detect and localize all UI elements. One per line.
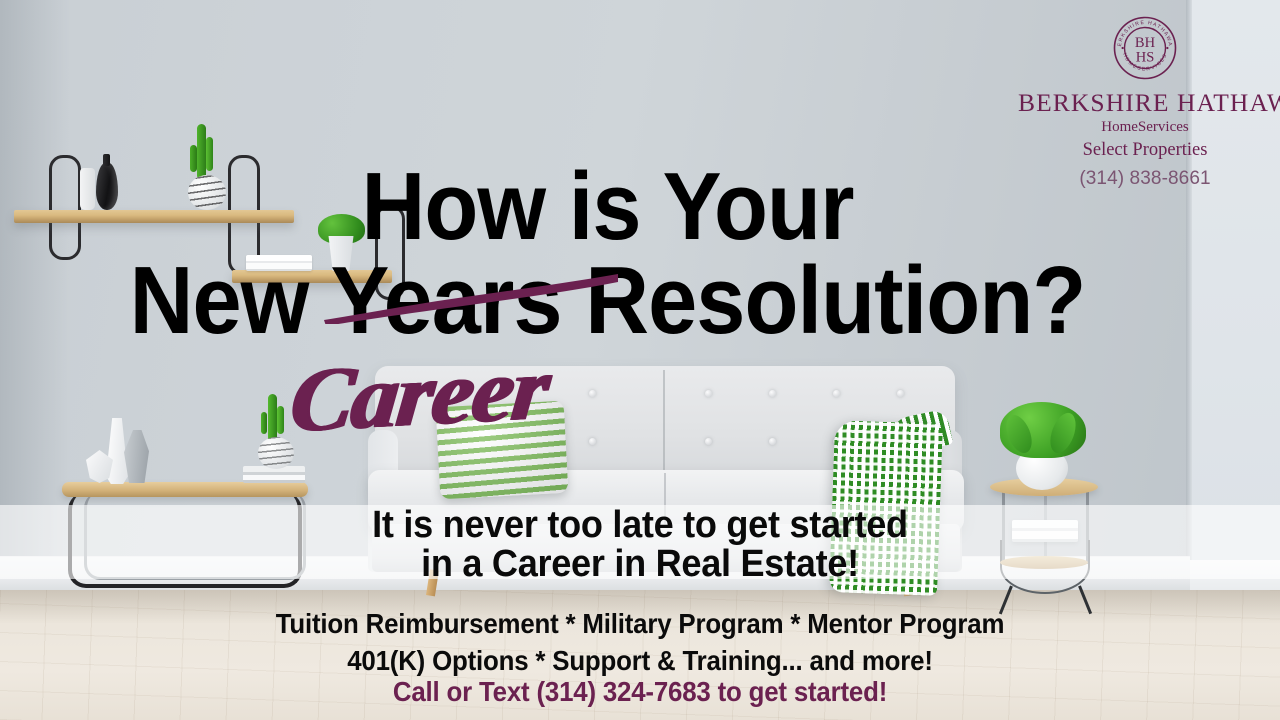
cactus-plant-console (268, 394, 277, 442)
script-word-career: Career (286, 341, 552, 446)
headline-line-1: How is Your (49, 160, 1167, 254)
call-to-action-text: Call or Text (314) 324-7683 to get start… (38, 676, 1241, 708)
subheadline-line-2: in a Career in Real Estate! (32, 545, 1248, 584)
benefits-block: Tuition Reimbursement * Military Program… (0, 605, 1280, 679)
page-headline: How is Your New Years Resolution? (49, 160, 1167, 348)
berkshire-hathaway-seal-icon: BERKSHIRE HATHAWAY HOMESERVICES BH HS (1109, 12, 1181, 84)
brand-office: Select Properties (1018, 138, 1272, 162)
brand-name: BERKSHIRE HATHAWAY (1018, 90, 1272, 116)
svg-text:HS: HS (1136, 50, 1155, 66)
headline-line-2: New Years Resolution? (49, 254, 1167, 348)
benefits-line-2: 401(K) Options * Support & Training... a… (38, 642, 1241, 679)
green-houseplant (1000, 402, 1086, 458)
promo-poster: BERKSHIRE HATHAWAY HOMESERVICES BH HS BE… (0, 0, 1280, 720)
subheadline-block: It is never too late to get started in a… (0, 506, 1280, 584)
brand-division: HomeServices (1018, 118, 1272, 137)
subheadline-line-1: It is never too late to get started (32, 506, 1248, 545)
console-table-top (62, 482, 308, 497)
benefits-line-1: Tuition Reimbursement * Military Program… (38, 605, 1241, 642)
